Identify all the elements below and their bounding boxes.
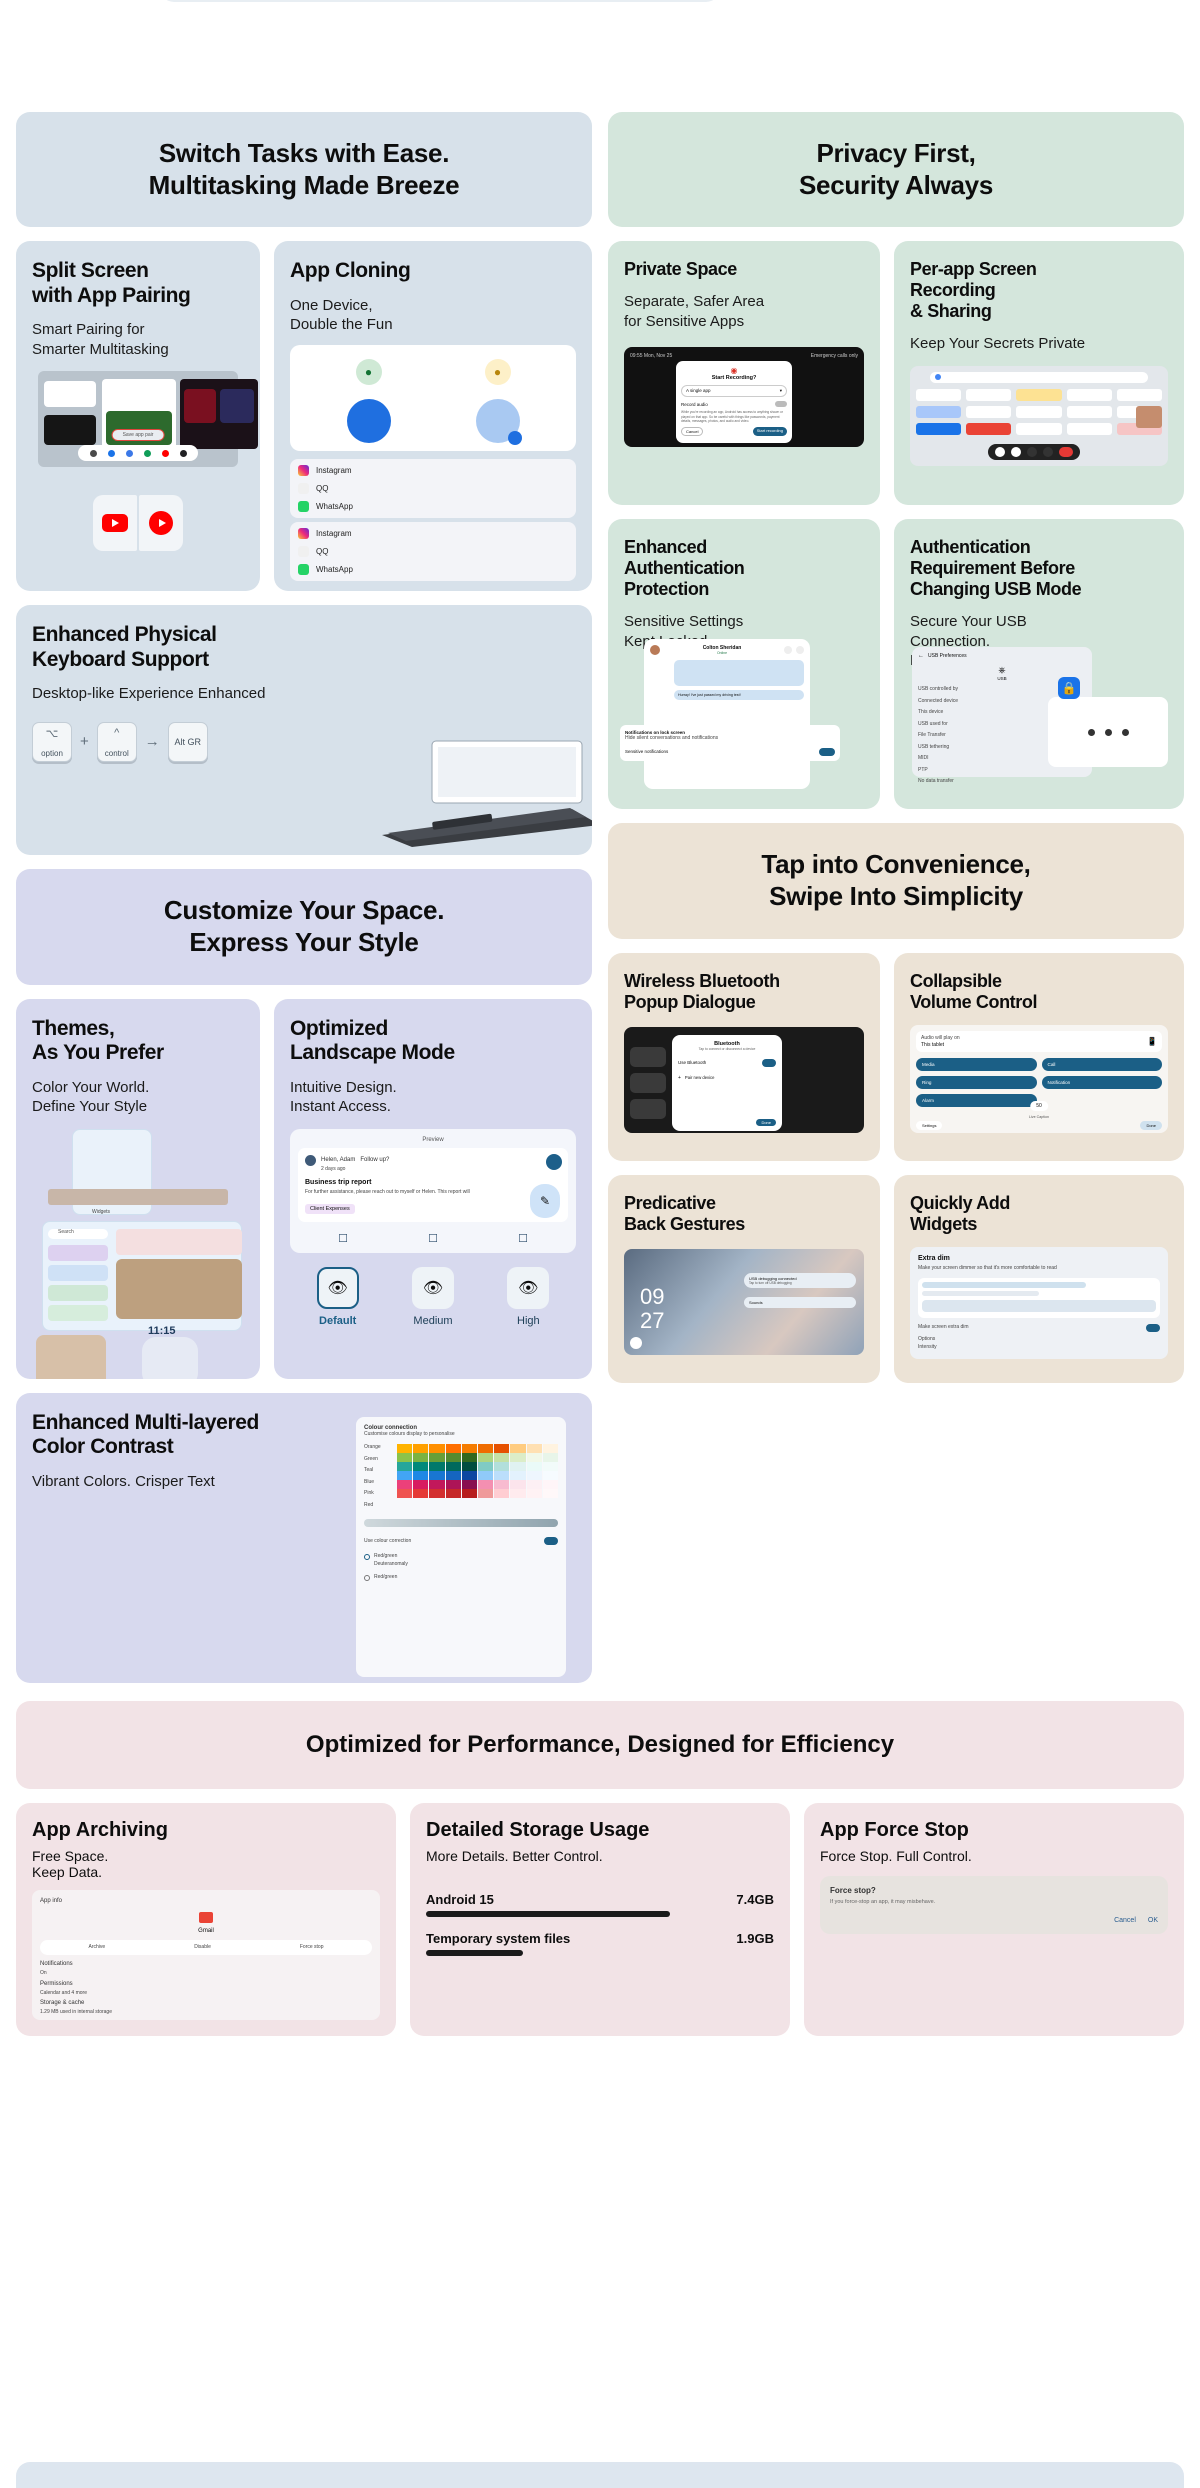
- volume-channel-alarm[interactable]: Alarm: [916, 1094, 1037, 1107]
- app-pair-icons: [32, 495, 244, 551]
- compose-icon[interactable]: ✎: [530, 1184, 560, 1218]
- convenience-cards-row-2: Predicative Back Gestures 09 27 USB debu…: [608, 1175, 1184, 1383]
- avatar: [305, 1155, 316, 1166]
- back-arrow-icon[interactable]: ←: [918, 653, 924, 659]
- app-cloning-title: App Cloning: [290, 259, 576, 283]
- email-preview-card: Preview Helen, Adam Follow up? 2 days ag…: [290, 1129, 576, 1253]
- key-control[interactable]: ^ control: [97, 722, 137, 762]
- archiving-sub: Free Space. Keep Data.: [32, 1848, 380, 1880]
- widget-preview: [918, 1278, 1160, 1318]
- top-stub: [160, 0, 720, 2]
- email-from: Helen, Adam: [321, 1157, 355, 1163]
- storage-bar: [426, 1911, 670, 1917]
- screen-record-sub: Keep Your Secrets Private: [910, 334, 1168, 354]
- device-phone-icon[interactable]: ☐: [338, 1232, 348, 1245]
- device-fold-icon[interactable]: ☐: [518, 1232, 528, 1245]
- widgets-label: Widgets: [92, 1209, 110, 1217]
- toggle-sensitive-notifications[interactable]: [819, 748, 835, 756]
- recording-scope-select[interactable]: A single app▾: [681, 385, 787, 397]
- privacy-cards-row: Private Space Separate, Safer Area for S…: [608, 241, 1184, 505]
- forcestop-title: App Force Stop: [820, 1819, 1168, 1842]
- card-keyboard-support[interactable]: Enhanced Physical Keyboard Support Deskt…: [16, 605, 592, 855]
- volume-value: 50: [1030, 1101, 1048, 1111]
- keyboard-title: Enhanced Physical Keyboard Support: [32, 623, 576, 672]
- card-usb-auth[interactable]: Authentication Requirement Before Changi…: [894, 519, 1184, 809]
- recording-dialog: ◉ Start Recording? A single app▾ Record …: [676, 361, 792, 443]
- themes-illustration: Widgets Search 11:15: [32, 1129, 244, 1269]
- forcestop-sub: Force Stop. Full Control.: [820, 1848, 1168, 1864]
- email-subject: Business trip report: [305, 1179, 561, 1186]
- themes-sub: Color Your World. Define Your Style: [32, 1078, 244, 1117]
- eye-icon: 👁: [507, 1267, 549, 1309]
- email-body: Helen, Adam Follow up? 2 days ago Busine…: [298, 1148, 568, 1222]
- search-icon[interactable]: [784, 646, 792, 654]
- cancel-button[interactable]: Cancel: [1114, 1917, 1136, 1924]
- landscape-title: Optimized Landscape Mode: [290, 1017, 576, 1066]
- radio-icon[interactable]: [364, 1554, 370, 1560]
- banner-multitasking: Switch Tasks with Ease. Multitasking Mad…: [16, 112, 592, 227]
- search-bar[interactable]: [930, 372, 1148, 383]
- banner-customize-text: Customize Your Space. Express Your Style: [34, 895, 574, 958]
- cancel-button[interactable]: Cancel: [681, 427, 703, 436]
- key-option[interactable]: ⌥ option: [32, 722, 72, 762]
- app-cloning-sub: One Device, Double the Fun: [290, 296, 576, 335]
- private-space-screenshot: 09:55 Mon, Nov 25Emergency calls only ◉ …: [624, 347, 864, 447]
- right-column: Privacy First, Security Always Private S…: [608, 112, 1184, 1683]
- split-screen-mock: Save app pair: [38, 371, 238, 467]
- list-item[interactable]: Instagram: [298, 465, 568, 476]
- avatar-user-b: ●: [485, 359, 511, 385]
- keyboard-sub: Desktop-like Experience Enhanced: [32, 684, 576, 704]
- banner-privacy-text: Privacy First, Security Always: [626, 138, 1166, 201]
- clone-illustration: ● ●: [290, 345, 576, 451]
- two-column-layout: Switch Tasks with Ease. Multitasking Mad…: [16, 0, 1184, 1683]
- split-screen-title: Split Screen with App Pairing: [32, 259, 244, 308]
- clock-minute: 27: [640, 1311, 664, 1331]
- intensity-slider[interactable]: [364, 1519, 558, 1527]
- banner-performance: Optimized for Performance, Designed for …: [16, 1701, 1184, 1789]
- themes-title: Themes, As You Prefer: [32, 1017, 244, 1066]
- table-row: Temporary system files 1.9GB: [426, 1931, 774, 1946]
- storage-bar: [426, 1950, 523, 1956]
- email-chip[interactable]: Client Expenses: [305, 1204, 355, 1214]
- multitask-cards-row: Split Screen with App Pairing Smart Pair…: [16, 241, 592, 591]
- plus-icon: +: [80, 733, 89, 750]
- email-ago: 2 days ago: [321, 1166, 561, 1174]
- more-icon[interactable]: [796, 646, 804, 654]
- banner-convenience-text: Tap into Convenience, Swipe Into Simplic…: [626, 849, 1166, 912]
- storage-sub: More Details. Better Control.: [426, 1848, 774, 1864]
- toggle-color-correction[interactable]: [544, 1537, 558, 1545]
- key-altgr[interactable]: Alt GR: [168, 722, 208, 762]
- cloned-app-list-2[interactable]: Instagram QQ WhatsApp: [290, 522, 576, 581]
- preview-label: Preview: [298, 1137, 568, 1143]
- banner-customize: Customize Your Space. Express Your Style: [16, 869, 592, 984]
- arrow-right-icon: →: [145, 733, 160, 750]
- banner-privacy: Privacy First, Security Always: [608, 112, 1184, 227]
- done-button[interactable]: Done: [756, 1119, 776, 1126]
- notification-sounds[interactable]: Sounds: [744, 1297, 856, 1308]
- instagram-icon: [298, 528, 309, 539]
- usb-title: Authentication Requirement Before Changi…: [910, 537, 1168, 600]
- performance-cards-row: App Archiving Free Space. Keep Data. App…: [16, 1803, 1184, 2036]
- private-space-sub: Separate, Safer Area for Sensitive Apps: [624, 292, 864, 331]
- card-back-gestures[interactable]: Predicative Back Gestures 09 27 USB debu…: [608, 1175, 880, 1383]
- card-screen-recording[interactable]: Per-app Screen Recording & Sharing Keep …: [894, 241, 1184, 505]
- search-input[interactable]: Search: [48, 1229, 108, 1239]
- clone-bubble-a: [347, 399, 391, 443]
- screen-record-title: Per-app Screen Recording & Sharing: [910, 259, 1168, 322]
- lock-icon: 🔒: [1058, 677, 1080, 699]
- radio-icon[interactable]: [364, 1575, 370, 1581]
- toggle-bluetooth[interactable]: [762, 1059, 776, 1067]
- card-themes[interactable]: Themes, As You Prefer Color Your World. …: [16, 999, 260, 1379]
- record-icon: ◉: [681, 366, 787, 375]
- call-controls[interactable]: [988, 444, 1080, 460]
- card-app-archiving[interactable]: App Archiving Free Space. Keep Data. App…: [16, 1803, 396, 2036]
- card-color-contrast[interactable]: Enhanced Multi-layered Color Contrast Vi…: [16, 1393, 592, 1683]
- card-storage-usage[interactable]: Detailed Storage Usage More Details. Bet…: [410, 1803, 790, 2036]
- volume-channel-ring[interactable]: Ring: [916, 1076, 1037, 1089]
- banner-multitasking-text: Switch Tasks with Ease. Multitasking Mad…: [34, 138, 574, 201]
- star-icon[interactable]: [546, 1154, 562, 1170]
- google-icon: [935, 374, 941, 380]
- start-recording-button[interactable]: Start recording: [753, 427, 787, 436]
- color-swatch-grid[interactable]: [397, 1444, 558, 1509]
- card-widgets[interactable]: Quickly Add Widgets Extra dim Make your …: [894, 1175, 1184, 1383]
- list-item[interactable]: QQ: [298, 546, 568, 557]
- plus-icon: +: [678, 1075, 681, 1081]
- clone-bubble-b: [476, 399, 520, 443]
- color-picker-panel: Colour connection Customise colours disp…: [356, 1417, 566, 1677]
- avatar: [650, 645, 660, 655]
- volume-panel: Audio will play on This tablet 📱 Media C…: [910, 1025, 1168, 1133]
- email-reply: Follow up?: [360, 1157, 389, 1163]
- contrast-options: 👁 Default 👁 Medium 👁 High: [290, 1267, 576, 1327]
- volume-channel-notification[interactable]: Notification: [1042, 1076, 1163, 1089]
- qq-icon: [298, 483, 309, 494]
- end-call-icon[interactable]: [1059, 447, 1073, 457]
- volume-channel-call[interactable]: Call: [1042, 1058, 1163, 1071]
- list-item[interactable]: WhatsApp: [298, 564, 568, 575]
- email-text: For further assistance, please reach out…: [305, 1189, 561, 1197]
- eye-icon: 👁: [412, 1267, 454, 1309]
- contrast-option-high[interactable]: 👁 High: [507, 1267, 549, 1327]
- banner-performance-text: Optimized for Performance, Designed for …: [34, 1731, 1166, 1759]
- back-gesture-handle[interactable]: [630, 1337, 642, 1349]
- cloned-app-list[interactable]: Instagram QQ WhatsApp: [290, 459, 576, 518]
- card-force-stop[interactable]: App Force Stop Force Stop. Full Control.…: [804, 1803, 1184, 2036]
- banner-convenience: Tap into Convenience, Swipe Into Simplic…: [608, 823, 1184, 938]
- notification-settings[interactable]: Notifications on lock screen Hide silent…: [620, 725, 840, 761]
- bluetooth-dialog: Bluetooth Tap to connect or disconnect a…: [672, 1035, 782, 1131]
- archiving-title: App Archiving: [32, 1819, 380, 1842]
- lockscreen-screenshot: 09 27 USB debugging connected Tap to tur…: [624, 1249, 864, 1355]
- feature-poster: Switch Tasks with Ease. Multitasking Mad…: [0, 0, 1200, 2478]
- app-info-screenshot: App info Gmail Archive Disable Force sto…: [32, 1890, 380, 2020]
- card-app-cloning[interactable]: App Cloning One Device, Double the Fun ●…: [274, 241, 592, 591]
- avatar-user-a: ●: [356, 359, 382, 385]
- notification-usb[interactable]: USB debugging connected Tap to turn off …: [744, 1273, 856, 1288]
- done-button[interactable]: Done: [1140, 1121, 1162, 1130]
- taskbar-dock[interactable]: [78, 445, 198, 461]
- convenience-cards-row-1: Wireless Bluetooth Popup Dialogue Blueto…: [608, 953, 1184, 1161]
- clock-hour: 09: [640, 1287, 664, 1307]
- auth-cards-row: Enhanced Authentication Protection Sensi…: [608, 519, 1184, 809]
- ok-button[interactable]: OK: [1148, 1917, 1158, 1924]
- whatsapp-icon: [298, 564, 309, 575]
- contrast-option-medium[interactable]: 👁 Medium: [412, 1267, 454, 1327]
- force-stop-dialog: Force stop? If you force-stop an app, it…: [820, 1876, 1168, 1934]
- toggle-record-audio[interactable]: [775, 401, 787, 407]
- home-screen-screenshot: [910, 366, 1168, 466]
- contrast-option-default[interactable]: 👁 Default: [317, 1267, 359, 1327]
- extra-dim-panel: Extra dim Make your screen dimmer so tha…: [910, 1247, 1168, 1359]
- usb-icon: ⎈: [918, 665, 1086, 676]
- archive-button[interactable]: Archive: [89, 1944, 106, 1952]
- whatsapp-icon: [298, 501, 309, 512]
- bluetooth-title: Wireless Bluetooth Popup Dialogue: [624, 971, 864, 1013]
- gmail-icon: [199, 1912, 213, 1923]
- card-volume[interactable]: Collapsible Volume Control Audio will pl…: [894, 953, 1184, 1161]
- video-thumbnail: [1136, 406, 1162, 428]
- toggle-extra-dim[interactable]: [1146, 1324, 1160, 1332]
- back-gesture-title: Predicative Back Gestures: [624, 1193, 864, 1235]
- storage-title: Detailed Storage Usage: [426, 1819, 774, 1842]
- widgets-title: Quickly Add Widgets: [910, 1193, 1168, 1235]
- landscape-sub: Intuitive Design. Instant Access.: [290, 1078, 576, 1117]
- private-space-title: Private Space: [624, 259, 864, 280]
- left-column: Switch Tasks with Ease. Multitasking Mad…: [16, 112, 592, 1683]
- auth-title: Enhanced Authentication Protection: [624, 537, 864, 600]
- device-tablet-icon[interactable]: ☐: [428, 1232, 438, 1245]
- qq-icon: [298, 546, 309, 557]
- storage-rows: Android 15 7.4GB Temporary system files …: [426, 1892, 774, 1956]
- settings-button[interactable]: Settings: [916, 1121, 942, 1130]
- chat-screenshot: Colton Sheridan Online Hurray! I've just…: [644, 639, 810, 789]
- table-row: Android 15 7.4GB: [426, 1892, 774, 1907]
- disable-button[interactable]: Disable: [194, 1944, 211, 1952]
- card-split-screen[interactable]: Split Screen with App Pairing Smart Pair…: [16, 241, 260, 591]
- volume-title: Collapsible Volume Control: [910, 971, 1168, 1013]
- message-image: [674, 660, 804, 686]
- eye-icon: 👁: [317, 1267, 359, 1309]
- force-stop-button[interactable]: Force stop: [300, 1944, 324, 1952]
- instagram-icon: [298, 465, 309, 476]
- youtube-icon: [93, 495, 137, 551]
- pin-entry-panel[interactable]: [1048, 697, 1168, 767]
- list-item[interactable]: Instagram: [298, 528, 568, 539]
- keyboard-tablet-image: [372, 737, 592, 847]
- youtube-music-icon: [139, 495, 183, 551]
- bottom-stub: [16, 2462, 1184, 2488]
- customize-cards-row: Themes, As You Prefer Color Your World. …: [16, 999, 592, 1379]
- volume-channel-media[interactable]: Media: [916, 1058, 1037, 1071]
- card-private-space[interactable]: Private Space Separate, Safer Area for S…: [608, 241, 880, 505]
- device-icon: 📱: [1147, 1037, 1157, 1046]
- clock-time: 11:15: [148, 1325, 176, 1337]
- card-enhanced-auth[interactable]: Enhanced Authentication Protection Sensi…: [608, 519, 880, 809]
- split-screen-sub: Smart Pairing for Smarter Multitasking: [32, 320, 244, 359]
- card-landscape[interactable]: Optimized Landscape Mode Intuitive Desig…: [274, 999, 592, 1379]
- bluetooth-screenshot: Bluetooth Tap to connect or disconnect a…: [624, 1027, 864, 1133]
- save-app-pair-pill[interactable]: Save app pair: [112, 429, 165, 441]
- card-bluetooth[interactable]: Wireless Bluetooth Popup Dialogue Blueto…: [608, 953, 880, 1161]
- list-item[interactable]: QQ: [298, 483, 568, 494]
- list-item[interactable]: WhatsApp: [298, 501, 568, 512]
